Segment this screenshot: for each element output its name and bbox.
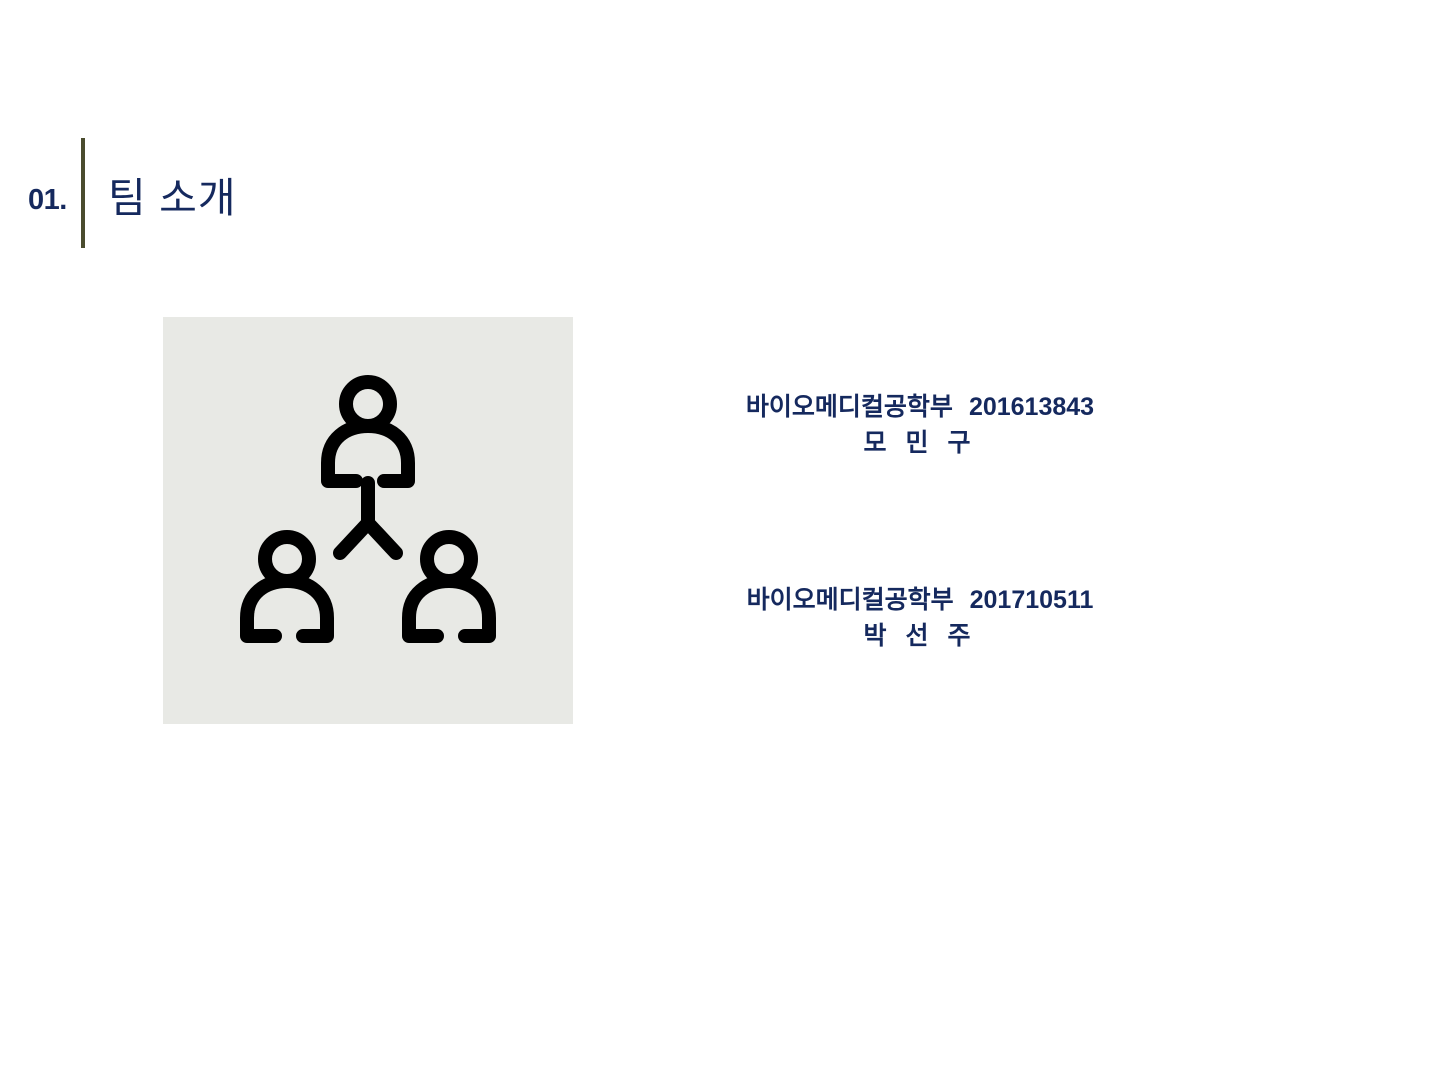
member-dept-and-id-line: 바이오메디컬공학부201613843	[640, 390, 1200, 426]
member-name: 박 선 주	[640, 619, 1200, 655]
team-hierarchy-icon	[218, 371, 518, 671]
section-number: 01.	[28, 186, 67, 215]
member-student-id: 201613843	[953, 393, 1094, 421]
member-name: 모 민 구	[640, 426, 1200, 462]
member-student-id: 201710511	[954, 586, 1094, 614]
team-member-list: 바이오메디컬공학부201613843 모 민 구 바이오메디컬공학부201710…	[640, 390, 1200, 654]
slide-canvas: 01. 팀 소개	[0, 0, 1440, 1080]
heading-divider-rule	[81, 138, 85, 248]
team-image-placeholder	[163, 317, 573, 724]
slide-heading: 01. 팀 소개	[0, 130, 700, 260]
team-member-entry: 바이오메디컬공학부201710511 박 선 주	[640, 583, 1200, 654]
page-title: 팀 소개	[108, 178, 237, 219]
member-department: 바이오메디컬공학부	[746, 393, 953, 421]
member-department: 바이오메디컬공학부	[747, 586, 954, 614]
member-dept-and-id-line: 바이오메디컬공학부201710511	[640, 583, 1200, 619]
team-member-entry: 바이오메디컬공학부201613843 모 민 구	[640, 390, 1200, 461]
